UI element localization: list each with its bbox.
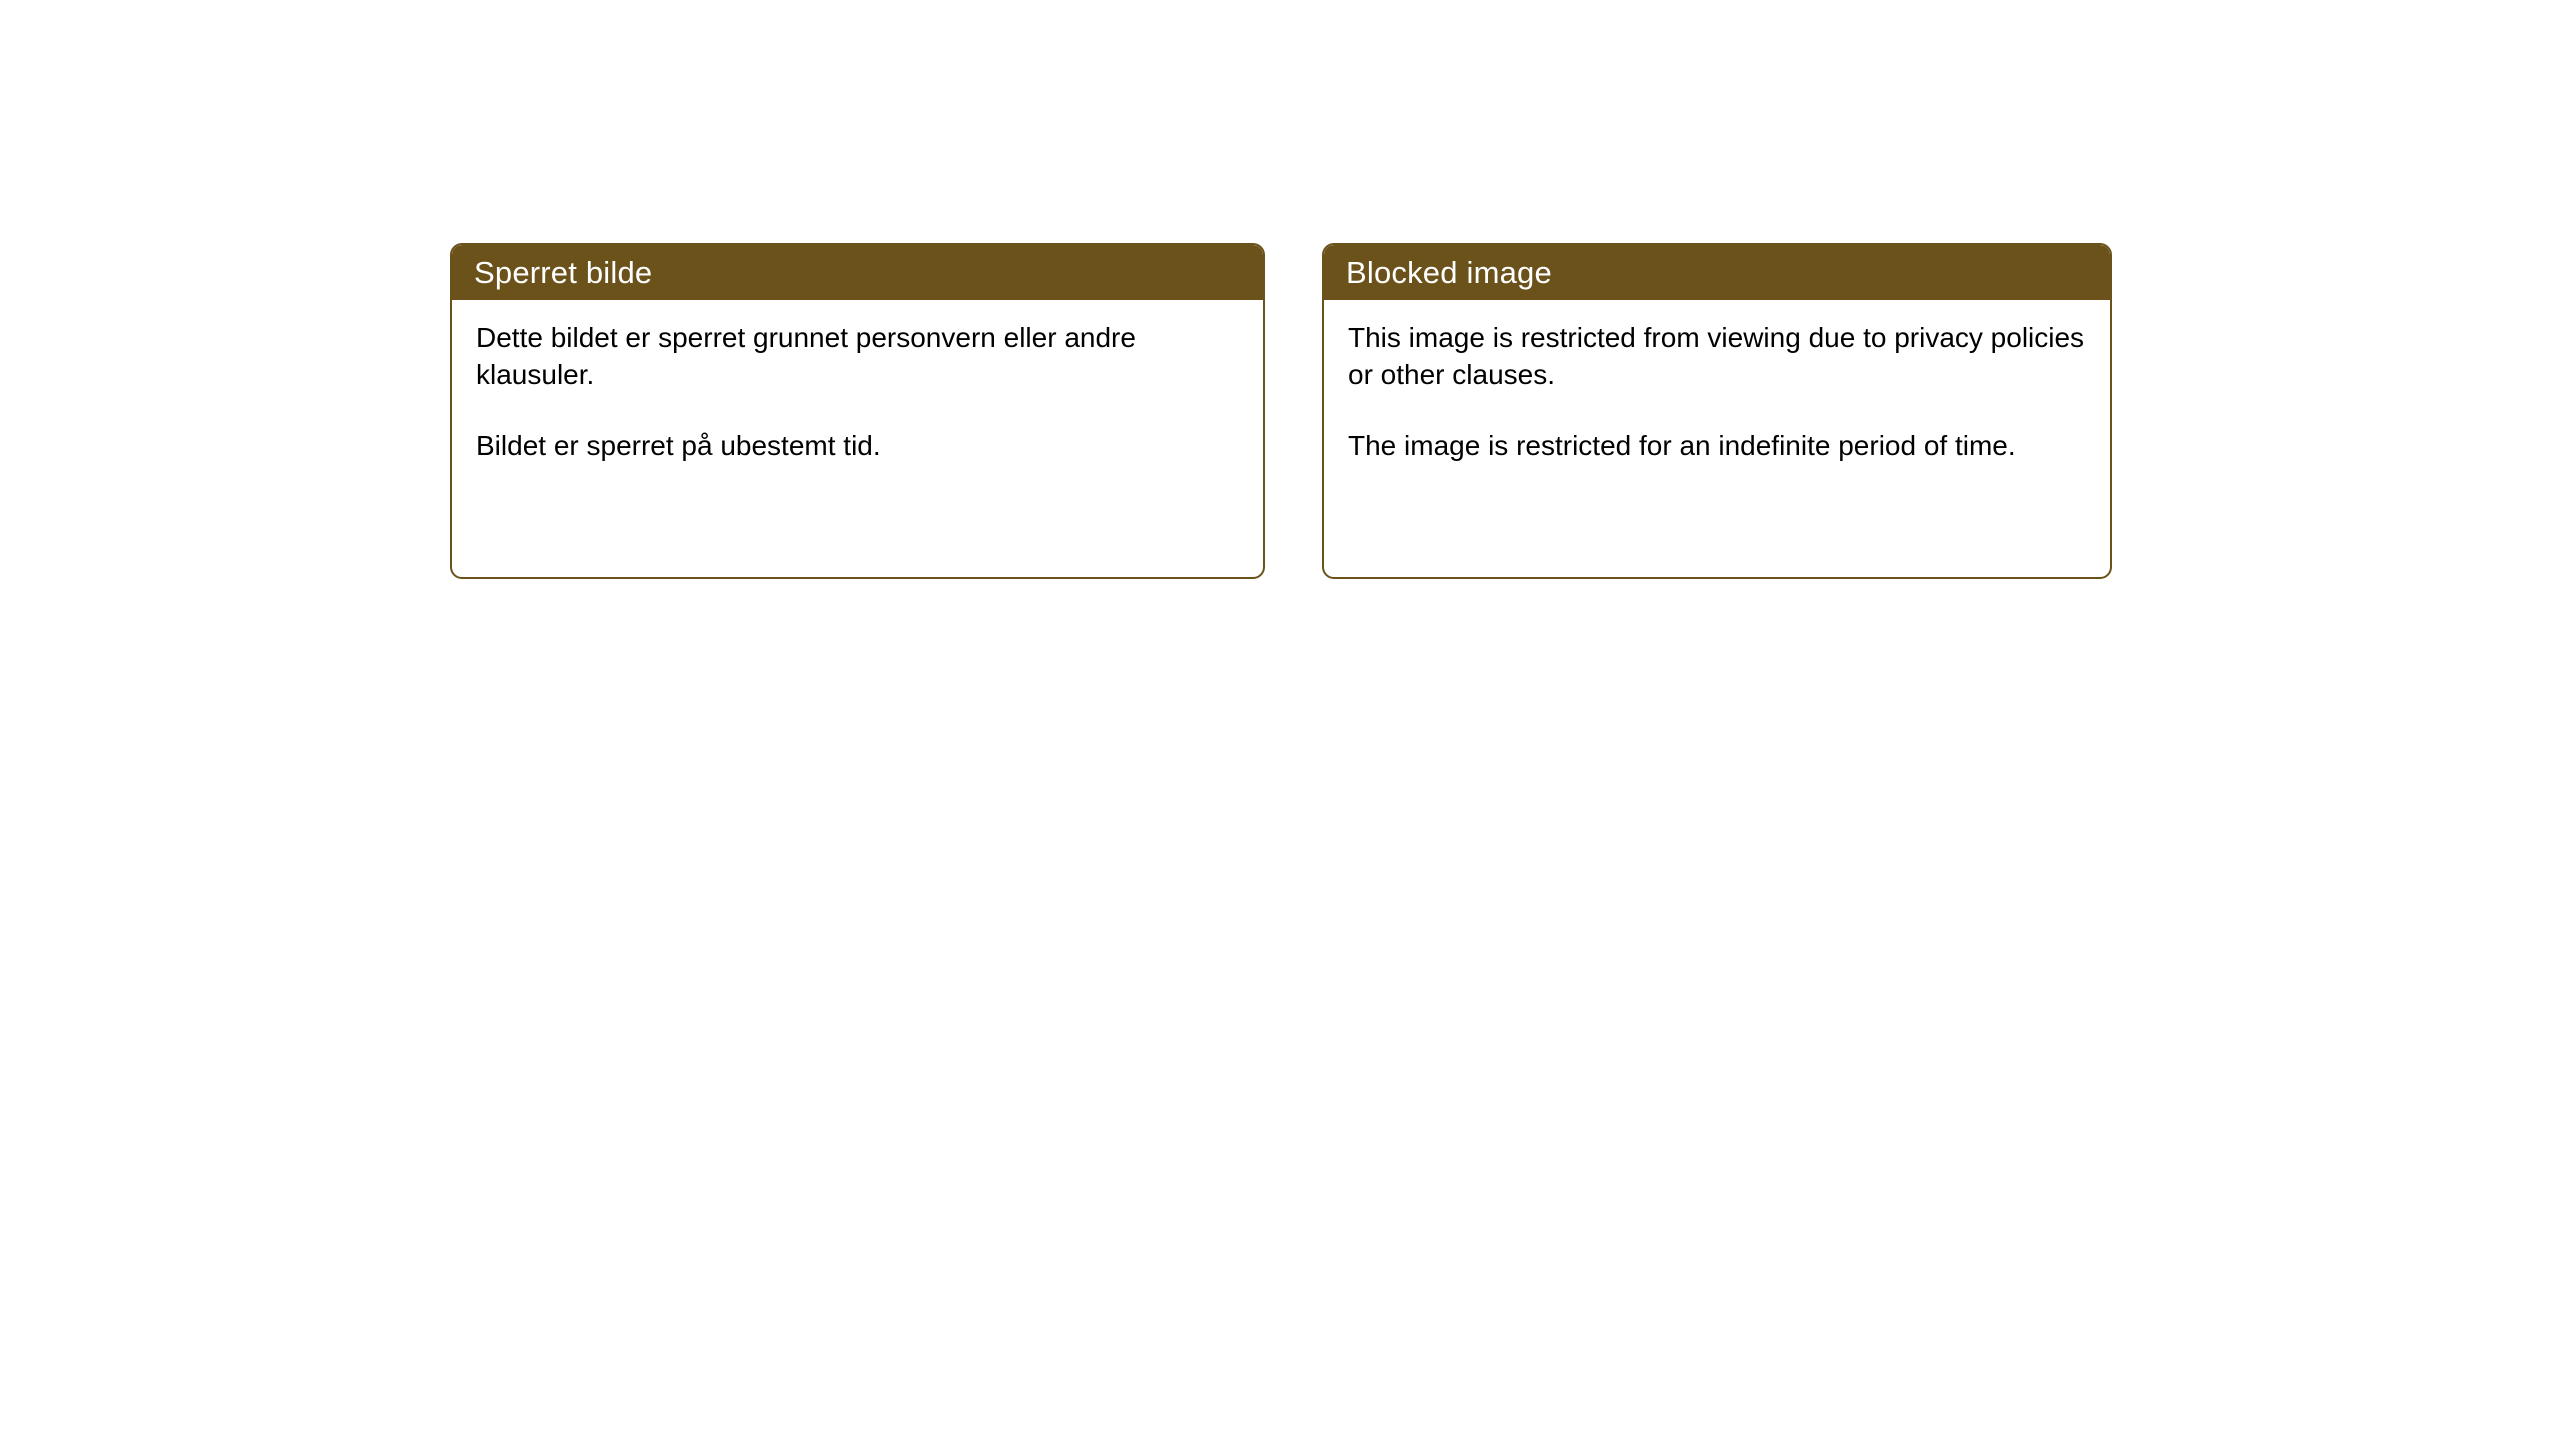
page-canvas: Sperret bilde Dette bildet er sperret gr… xyxy=(0,0,2560,1440)
card-header: Blocked image xyxy=(1324,245,2110,300)
card-body: This image is restricted from viewing du… xyxy=(1324,300,2110,465)
card-title: Blocked image xyxy=(1346,257,1552,288)
card-paragraph-reason: Dette bildet er sperret grunnet personve… xyxy=(476,320,1239,394)
card-body: Dette bildet er sperret grunnet personve… xyxy=(452,300,1263,465)
card-paragraph-duration: Bildet er sperret på ubestemt tid. xyxy=(476,428,1239,465)
card-header: Sperret bilde xyxy=(452,245,1263,300)
blocked-image-notice-card-norwegian: Sperret bilde Dette bildet er sperret gr… xyxy=(450,243,1265,579)
blocked-image-notice-card-english: Blocked image This image is restricted f… xyxy=(1322,243,2112,579)
card-title: Sperret bilde xyxy=(474,257,652,288)
card-paragraph-duration: The image is restricted for an indefinit… xyxy=(1348,428,2086,465)
card-paragraph-reason: This image is restricted from viewing du… xyxy=(1348,320,2086,394)
